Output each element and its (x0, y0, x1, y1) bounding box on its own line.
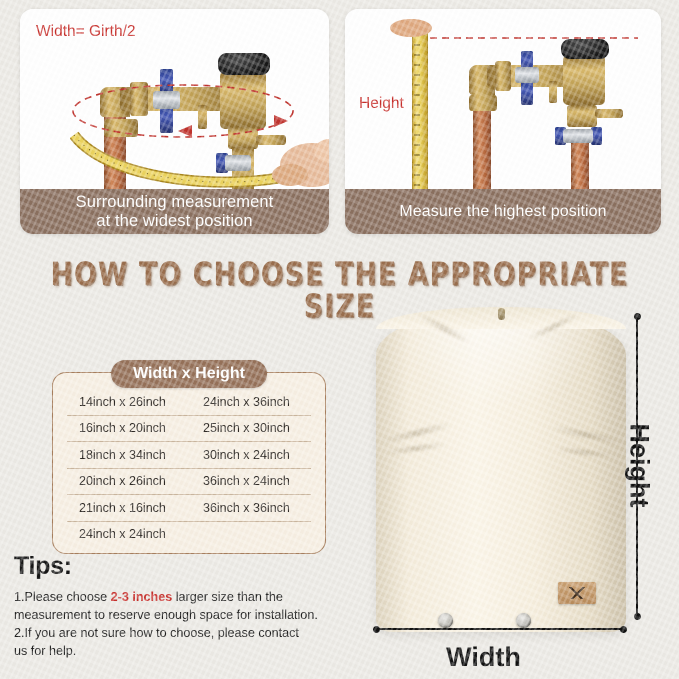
brass-lower-union-right (567, 105, 597, 127)
brand-mountain-icon (566, 587, 588, 599)
table-row: 21inch x 16inch 36inch x 36inch (67, 495, 311, 522)
grommet-left (438, 613, 453, 628)
girth-formula-note: Width= Girth/2 (36, 23, 136, 41)
size-option: 14inch x 26inch (67, 395, 189, 409)
height-reference-dashed-line (430, 35, 640, 41)
table-row: 20inch x 26inch 36inch x 24inch (67, 469, 311, 496)
tip-1-text-before: 1.Please choose (14, 590, 111, 604)
panel-left-caption: Surrounding measurement at the widest po… (20, 189, 329, 234)
table-row: 24inch x 24inch (67, 522, 311, 548)
size-option: 24inch x 36inch (189, 395, 311, 409)
panel-height-measurement: Height (345, 9, 661, 234)
tips-title: Tips: (14, 552, 344, 581)
hand-holding-ruler (389, 17, 435, 39)
copper-riser-right (571, 139, 589, 189)
table-row: 14inch x 26inch 24inch x 36inch (67, 389, 311, 416)
blue-valve-handle-lower-right (521, 81, 533, 105)
photo-height-measurement: Height (345, 9, 661, 189)
fabric-crease (382, 422, 451, 445)
steel-valve-plate-right (515, 67, 539, 83)
width-dimension-line (376, 628, 624, 630)
height-dimension-dot-top (634, 313, 641, 320)
brass-bonnet-body-right (563, 55, 605, 105)
size-option: 24inch x 24inch (67, 527, 189, 541)
hand-illustration (270, 129, 329, 189)
tip-item-2-line-2: us for help. (14, 643, 344, 661)
tip-item-1-line-2: measurement to reserve enough space for … (14, 607, 344, 625)
width-dimension-dot-right (620, 626, 627, 633)
ruler-ticks (412, 25, 426, 189)
brand-logo-tag (558, 582, 596, 604)
black-cap (218, 53, 270, 75)
size-option: 16inch x 20inch (67, 421, 189, 435)
width-dimension-label: Width (348, 642, 619, 673)
brass-union-nut-right (469, 95, 497, 111)
size-option: 36inch x 24inch (189, 474, 311, 488)
height-note: Height (359, 95, 404, 113)
fabric-crease (552, 425, 622, 445)
grommet-right (516, 613, 531, 628)
size-option: 21inch x 16inch (67, 501, 189, 515)
drawstring-toggle (498, 308, 505, 320)
tip-item-1-line-1: 1.Please choose 2-3 inches larger size t… (14, 589, 344, 607)
brass-hex-fitting-right (495, 61, 511, 91)
table-row: 18inch x 34inch 30inch x 24inch (67, 442, 311, 469)
tips-section: Tips: 1.Please choose 2-3 inches larger … (14, 552, 344, 661)
height-dimension-label: Height (624, 424, 655, 508)
tip-1-highlight: 2-3 inches (111, 590, 173, 604)
size-option: 20inch x 26inch (67, 474, 189, 488)
photo-girth-measurement: Width= Girth/2 (20, 9, 329, 189)
panel-right-caption: Measure the highest position (345, 189, 661, 234)
caption-line-1: Surrounding measurement (76, 193, 274, 211)
table-row: 16inch x 20inch 25inch x 30inch (67, 416, 311, 443)
relief-vent-right (549, 81, 557, 103)
product-dimension-diagram: Height Width (348, 300, 679, 679)
black-cap-right (561, 39, 609, 59)
size-option: 36inch x 36inch (189, 501, 311, 515)
panel-girth-measurement: Width= Girth/2 (20, 9, 329, 234)
product-backflow-cover (376, 310, 626, 632)
brass-side-cock-right (595, 109, 623, 118)
size-table-header: Width x Height (111, 360, 267, 388)
size-option: 18inch x 34inch (67, 448, 189, 462)
size-option: 30inch x 24inch (189, 448, 311, 462)
caption-line-1: Measure the highest position (399, 203, 606, 221)
size-option: 25inch x 30inch (189, 421, 311, 435)
size-table: Width x Height 14inch x 26inch 24inch x … (52, 372, 326, 554)
height-dimension-dot-bottom (634, 613, 641, 620)
tip-item-2-line-1: 2.If you are not sure how to choose, ple… (14, 625, 344, 643)
fabric-crease (556, 446, 614, 458)
fabric-crease (386, 442, 446, 455)
tip-1-text-after: larger size than the (172, 590, 283, 604)
steel-test-plate-right (563, 129, 593, 143)
width-dimension-dot-left (373, 626, 380, 633)
copper-pipe-vertical-right (473, 109, 491, 189)
caption-line-2: at the widest position (76, 212, 274, 230)
